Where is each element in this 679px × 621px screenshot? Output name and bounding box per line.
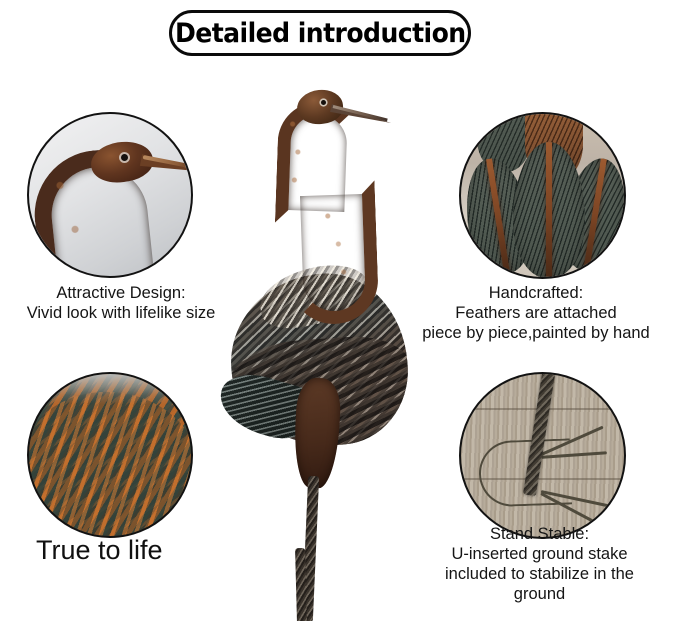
caption-true-to-life: True to life — [36, 534, 226, 566]
plumage-background-sky — [29, 374, 191, 404]
feature-image-stand-stable — [459, 372, 626, 539]
page-title: Detailed introduction — [175, 20, 466, 47]
feature-image-true-to-life — [27, 372, 193, 538]
crane-eye — [321, 100, 326, 105]
title-banner: Detailed introduction — [169, 10, 471, 56]
u-shaped-stake — [478, 438, 572, 507]
feature-image-handcrafted — [459, 112, 626, 279]
caption-stand-stable: Stand Stable: U-inserted ground stake in… — [400, 524, 679, 604]
crane-thigh — [292, 377, 342, 489]
metal-feather-closeup-photo — [461, 114, 624, 277]
metal-crane-garden-statue — [225, 78, 420, 618]
rusty-plumage-closeup-photo — [29, 374, 191, 536]
crane-eye — [121, 154, 128, 161]
feather-center — [513, 142, 585, 277]
caption-attractive-design: Attractive Design: Vivid look with lifel… — [0, 283, 246, 323]
feature-image-attractive-design — [27, 112, 193, 278]
product-infographic: Detailed introduction Attractive Design:… — [0, 0, 679, 621]
u-ground-stake-on-wood-photo — [461, 374, 624, 537]
crane-head-closeup-photo — [29, 114, 191, 276]
caption-handcrafted: Handcrafted: Feathers are attached piece… — [393, 283, 679, 343]
